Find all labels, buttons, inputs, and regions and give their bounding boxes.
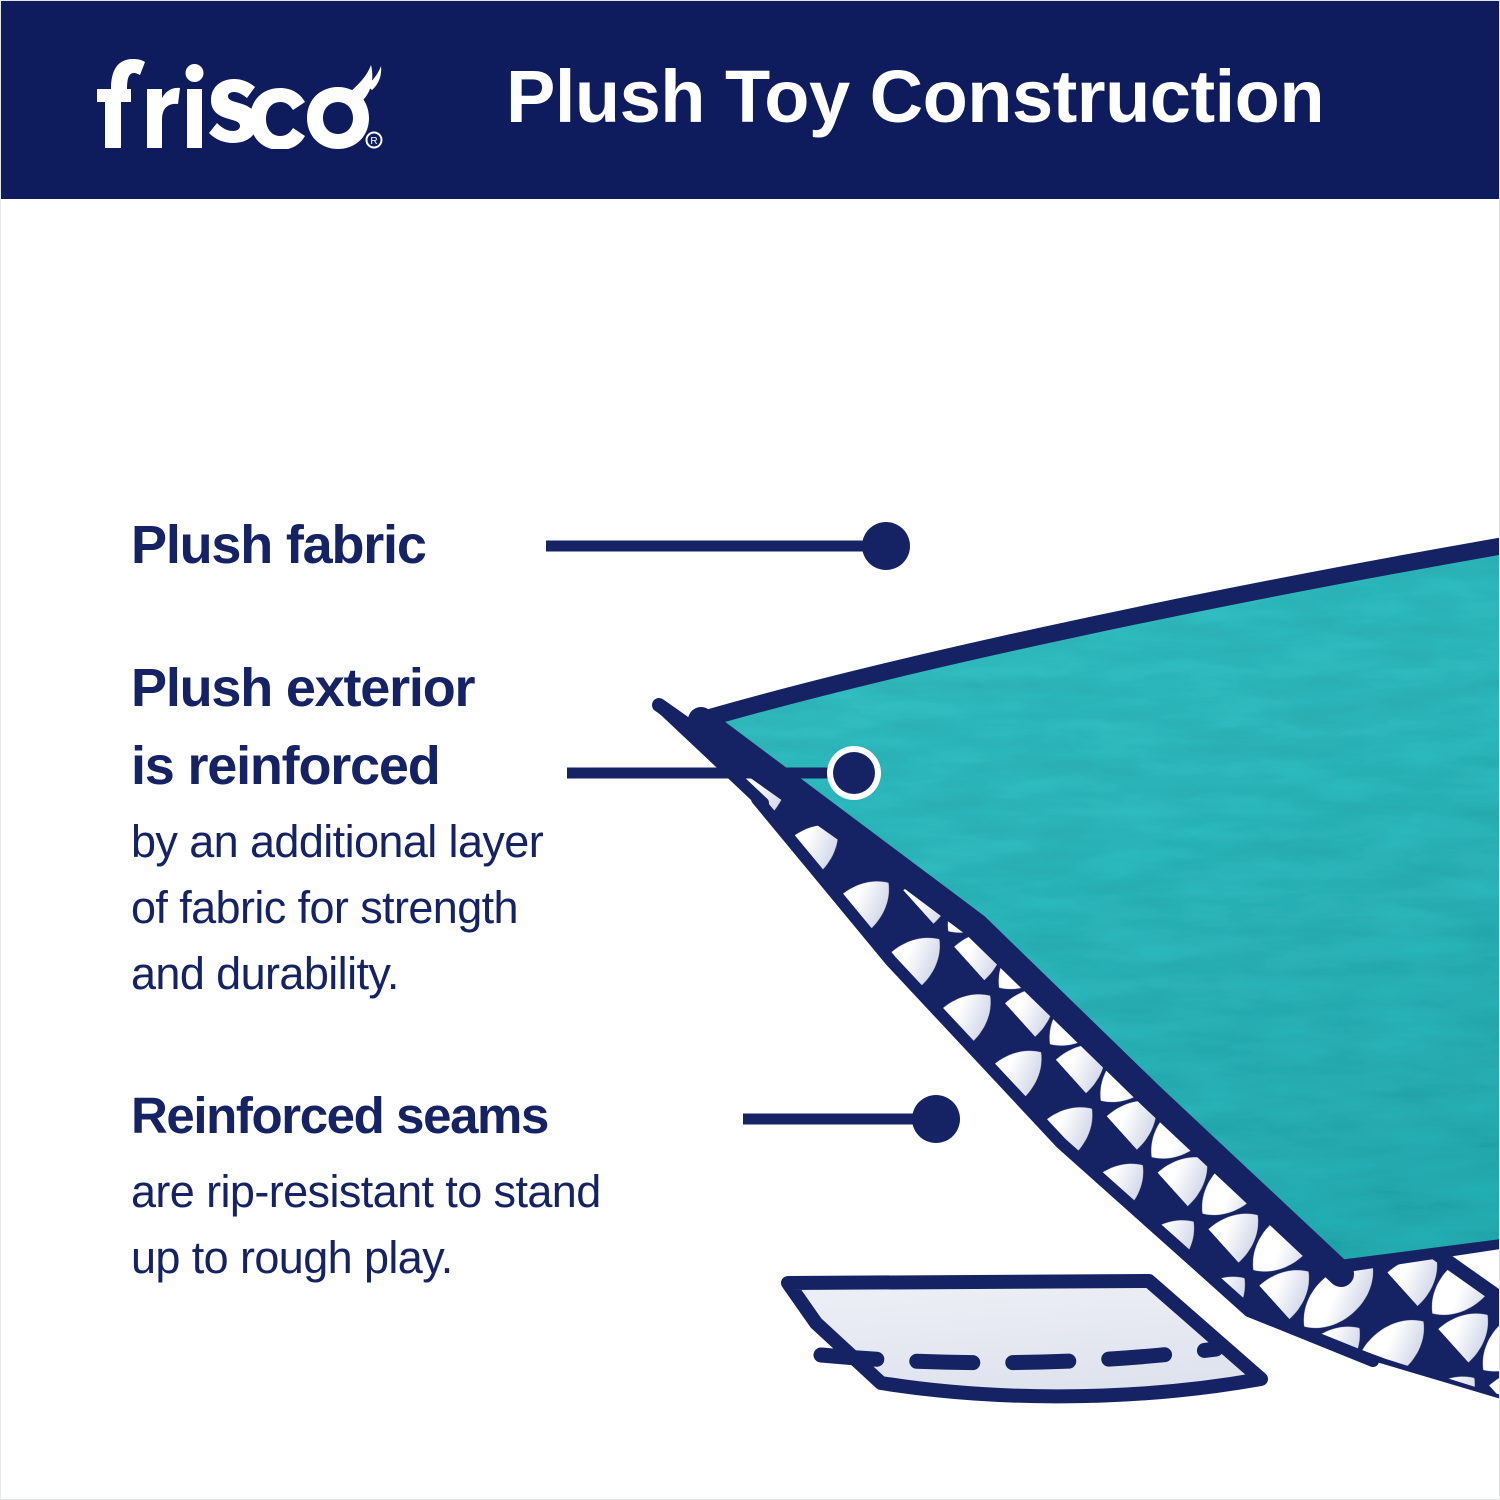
leader-dot-reinforced-seams (912, 1095, 960, 1143)
page-title: Plush Toy Construction (506, 47, 1406, 147)
svg-text:R: R (370, 136, 377, 147)
callout-reinforced-seams: Reinforced seams are rip-resistant to st… (131, 1077, 811, 1291)
plush-toy-construction-infographic: R Plush Toy Construction (0, 0, 1500, 1500)
callout-plush-fabric: Plush fabric (131, 506, 601, 584)
callout-headline: Plush fabric (131, 506, 601, 584)
callout-headline: Reinforced seams (131, 1077, 811, 1155)
callout-body: are rip-resistant to stand up to rough p… (131, 1155, 811, 1291)
callout-headline: Plush exterior is reinforced (131, 649, 731, 805)
leader-dot-plush-exterior (833, 752, 875, 794)
leader-dot-plush-fabric (862, 522, 910, 570)
callout-plush-exterior: Plush exterior is reinforced by an addit… (131, 649, 731, 1007)
header-bar: R Plush Toy Construction (1, 1, 1500, 199)
callout-body: by an additional layer of fabric for str… (131, 805, 731, 1007)
frisco-logo: R (87, 45, 387, 149)
reinforced-seam-flap (788, 1281, 1261, 1396)
registered-trademark-icon: R (367, 133, 382, 148)
